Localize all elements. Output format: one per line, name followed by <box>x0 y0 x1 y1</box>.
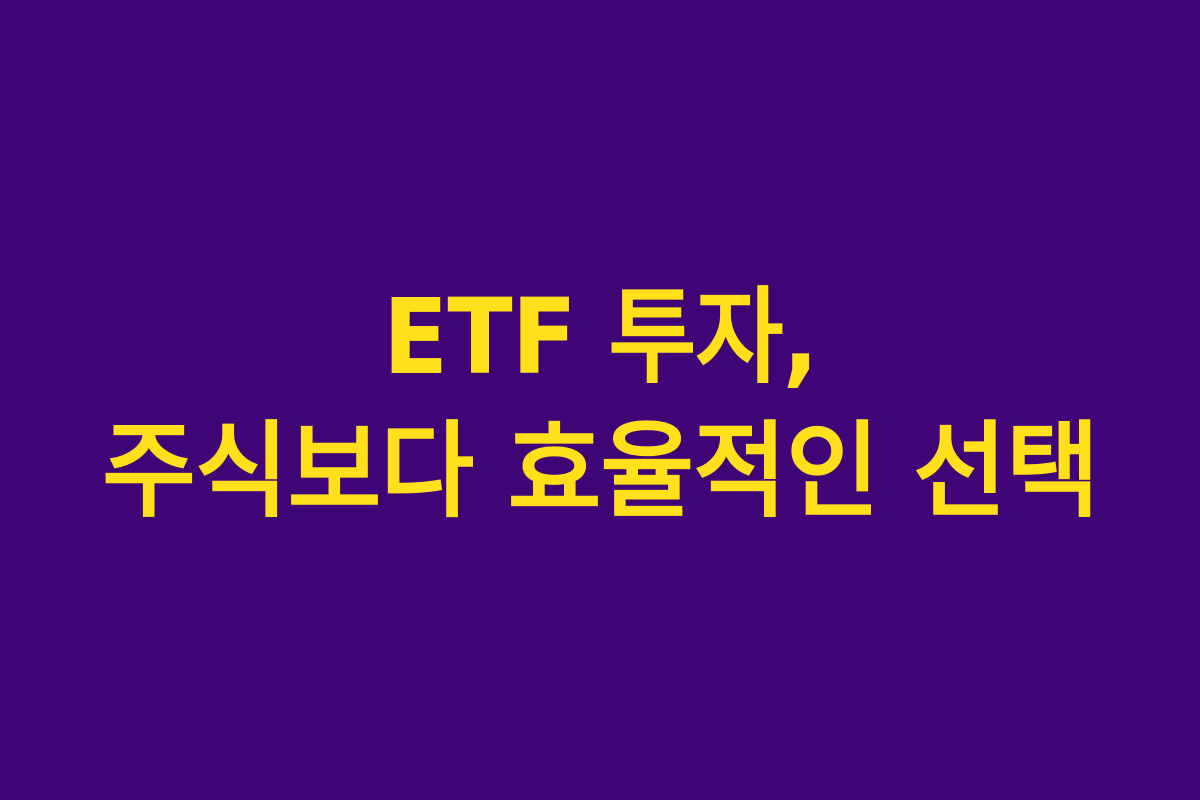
headline-line-1: ETF 투자, <box>382 285 817 389</box>
title-card-background: ETF 투자, 주식보다 효율적인 선택 <box>0 0 1200 800</box>
headline-line-2: 주식보다 효율적인 선택 <box>102 419 1098 523</box>
headline-block: ETF 투자, 주식보다 효율적인 선택 <box>0 285 1200 523</box>
